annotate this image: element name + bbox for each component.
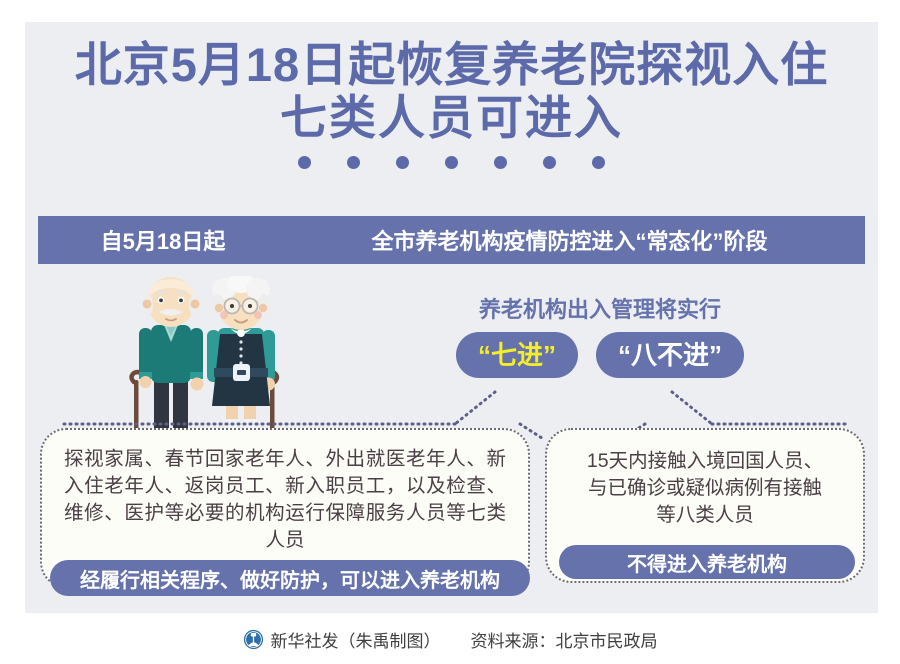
xinhua-logo-icon <box>243 629 264 650</box>
title-line-1: 北京5月18日起恢复养老院探视入住 <box>25 38 878 91</box>
separator-dot <box>543 156 556 169</box>
denied-conclusion-pill: 不得进入养老机构 <box>559 545 855 579</box>
elderly-couple-illustration <box>112 276 312 444</box>
separator-dot <box>347 156 360 169</box>
banner-statement: 全市养老机构疫情防控进入“常态化”阶段 <box>288 224 865 256</box>
denied-categories-text: 15天内接触入境回国人员、 与已确诊或疑似病例有接触 等八类人员 <box>547 430 863 529</box>
denied-line-2: 与已确诊或疑似病例有接触 <box>561 475 849 502</box>
policy-badges: “七进” “八不进” <box>400 332 800 378</box>
page-title: 北京5月18日起恢复养老院探视入住 七类人员可进入 <box>25 38 878 169</box>
title-dot-separator <box>25 156 878 169</box>
management-heading: 养老机构出入管理将实行 <box>400 292 800 324</box>
separator-dot <box>396 156 409 169</box>
denied-line-3: 等八类人员 <box>561 502 849 529</box>
separator-dot <box>592 156 605 169</box>
allowed-categories-text: 探视家属、春节回家老年人、外出就医老年人、新入住老年人、返岗员工、新入职员工，以… <box>42 430 528 554</box>
effective-date-banner: 自5月18日起 全市养老机构疫情防控进入“常态化”阶段 <box>38 216 865 264</box>
infographic-poster: 北京5月18日起恢复养老院探视入住 七类人员可进入 自5月18日起 全市养老机构… <box>0 0 900 664</box>
badge-seven-allowed[interactable]: “七进” <box>456 332 578 378</box>
footer-credit-text: 新华社发（朱禹制图） <box>271 627 441 652</box>
separator-dot <box>298 156 311 169</box>
footer-credits: 新华社发（朱禹制图） 资料来源：北京市民政局 <box>0 627 900 652</box>
separator-dot <box>494 156 507 169</box>
footer-source-text: 资料来源：北京市民政局 <box>471 627 658 652</box>
title-line-2: 七类人员可进入 <box>25 91 878 144</box>
banner-date-label: 自5月18日起 <box>38 224 288 256</box>
badge-eight-denied[interactable]: “八不进” <box>596 332 744 378</box>
denied-line-1: 15天内接触入境回国人员、 <box>561 448 849 475</box>
allowed-conclusion-pill: 经履行相关程序、做好防护，可以进入养老机构 <box>50 560 530 596</box>
separator-dot <box>445 156 458 169</box>
